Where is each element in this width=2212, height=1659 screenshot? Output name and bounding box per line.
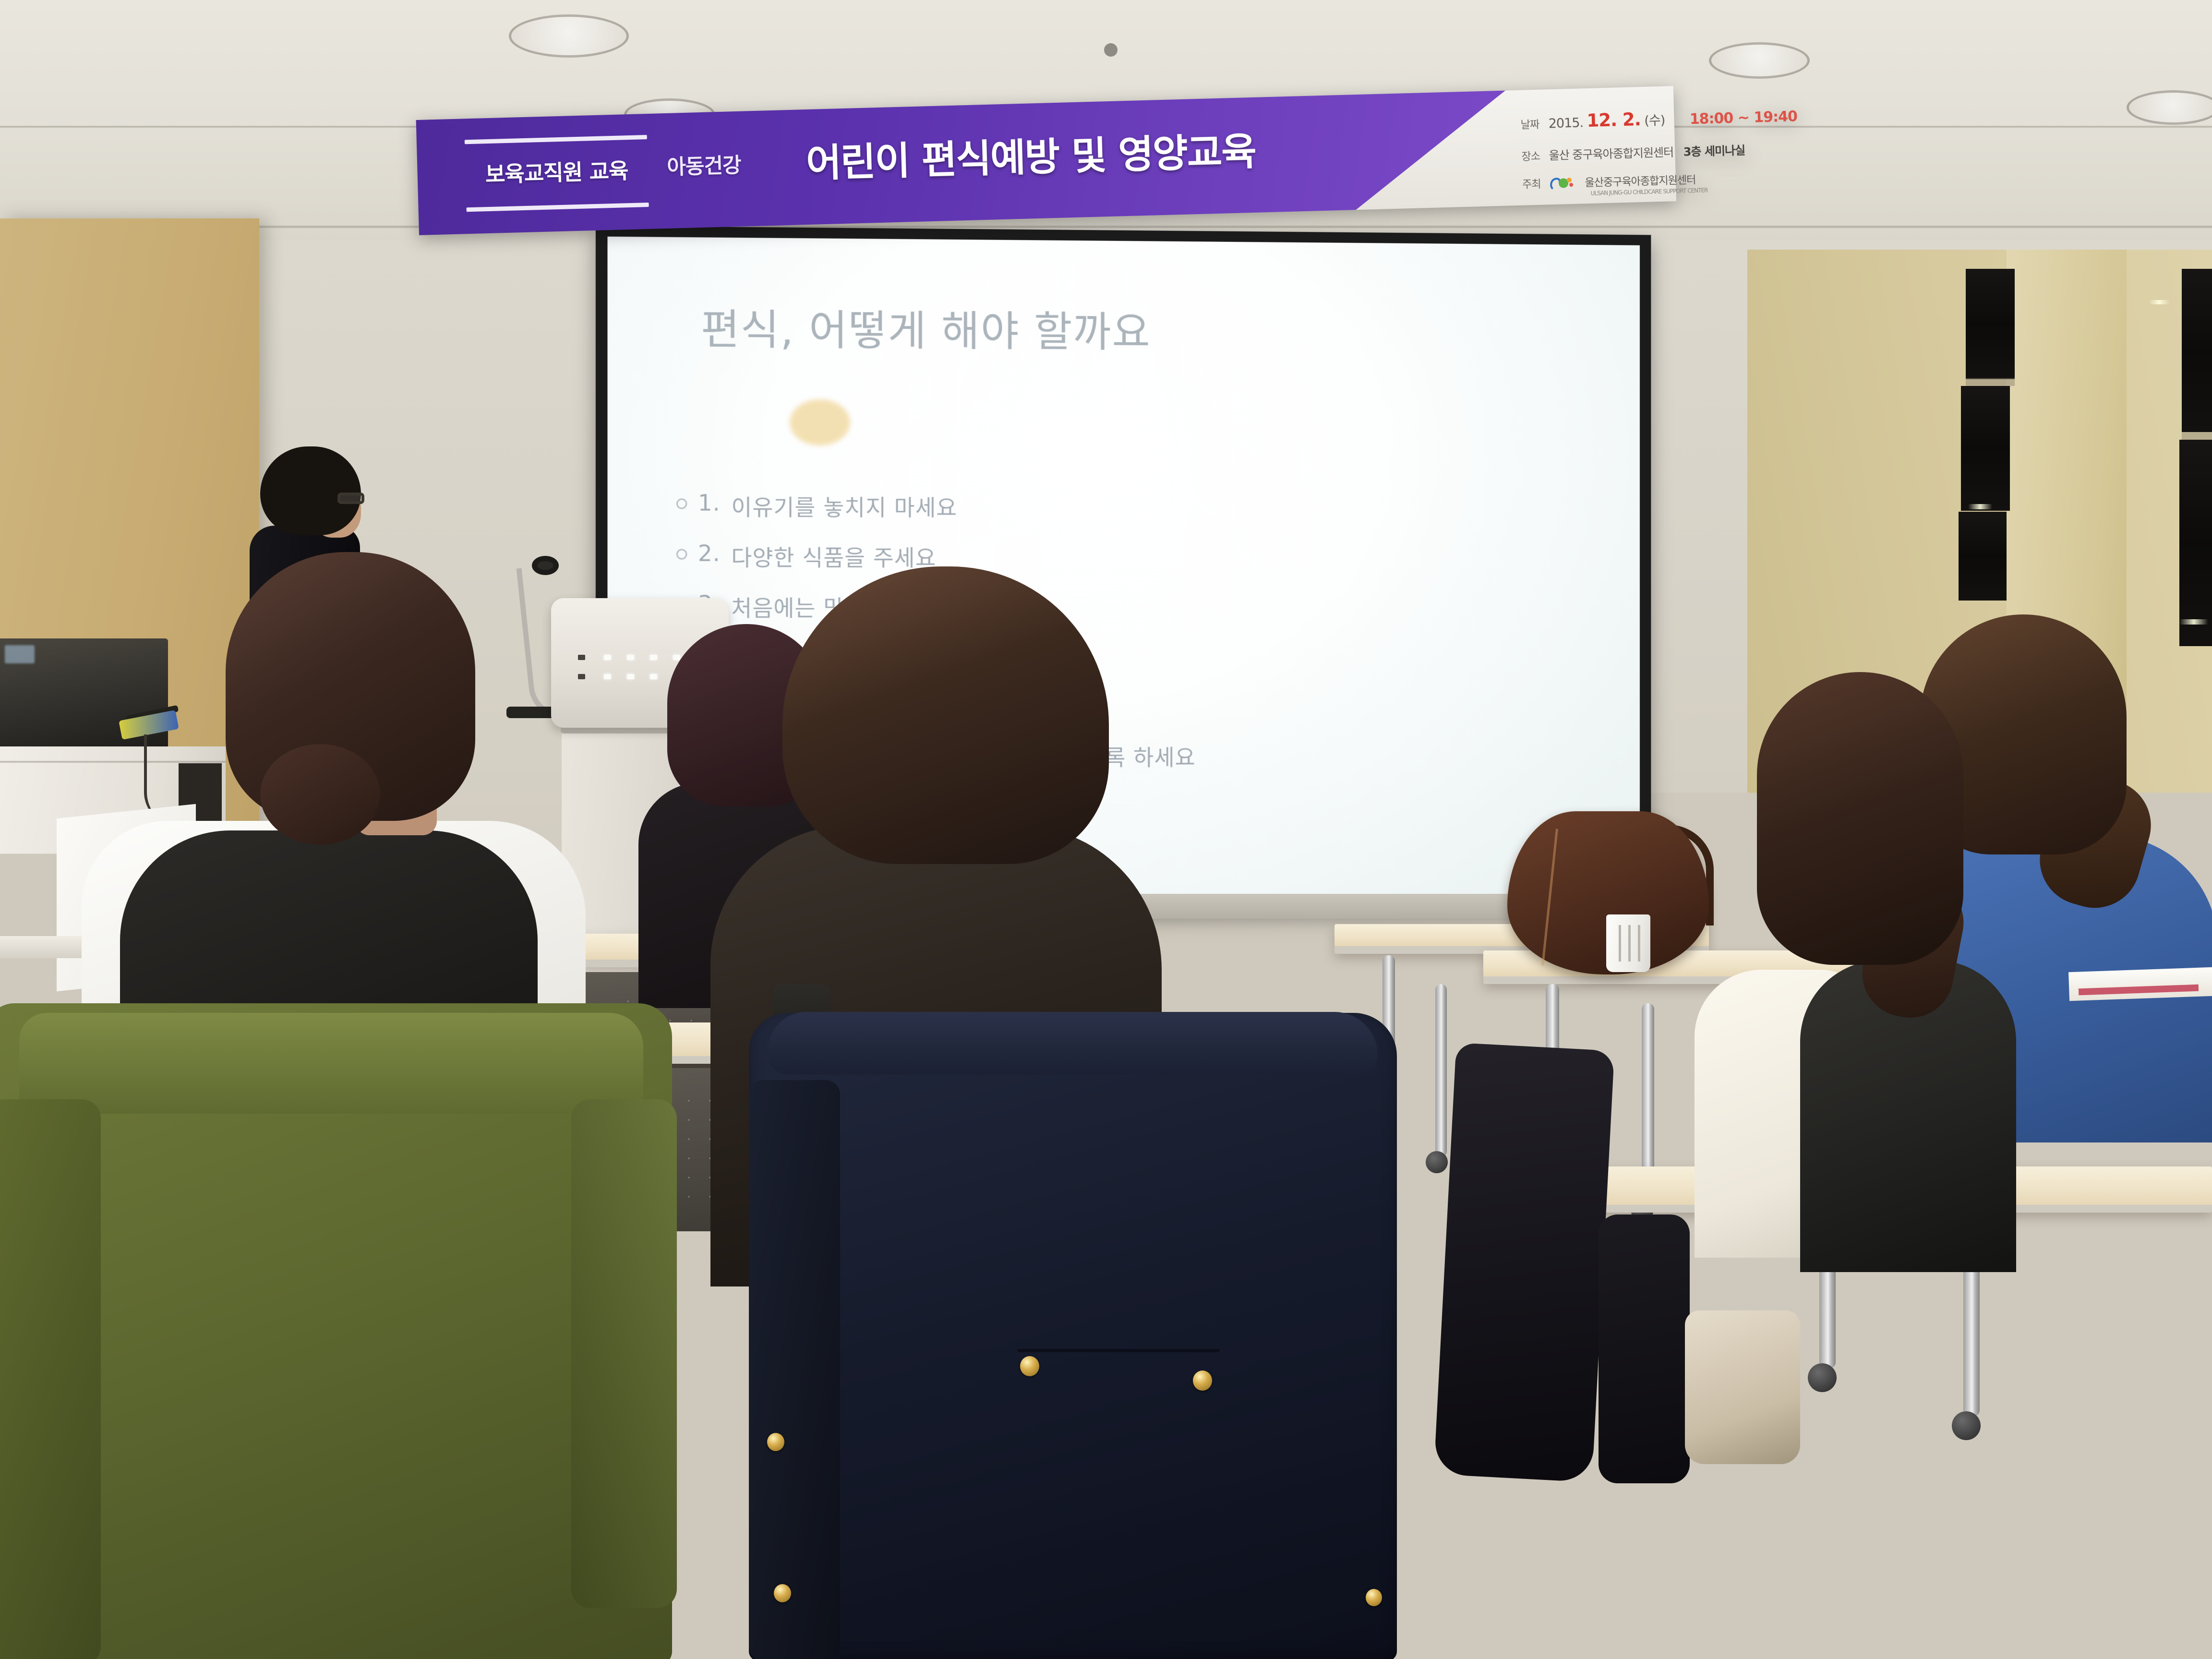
date-weekday: (수) xyxy=(1644,113,1665,129)
banner-subtitle: 아동건강 xyxy=(667,149,742,180)
gold-button-icon xyxy=(1193,1370,1212,1391)
glasses-icon xyxy=(337,493,364,504)
date-day: 12. 2. xyxy=(1587,109,1641,131)
monitor-screen-glint xyxy=(5,645,35,663)
attendee-vest xyxy=(1709,672,2016,1272)
navy-coat-lapel xyxy=(749,1080,840,1659)
navy-coat-collar xyxy=(768,1012,1378,1074)
window-pane xyxy=(2182,269,2212,432)
olive-coat-sleeve-right xyxy=(571,1099,677,1608)
table-caster xyxy=(1808,1363,1837,1392)
ceiling-sensor-icon xyxy=(1104,43,1118,57)
place-label: 장소 xyxy=(1521,151,1540,163)
banner-badge: 보육교직원 교육 xyxy=(465,135,649,212)
bullet-circle-icon xyxy=(676,549,687,559)
table-caster xyxy=(1426,1151,1448,1173)
table-leg xyxy=(1435,984,1447,1157)
black-bag xyxy=(2002,1483,2212,1659)
window-pane xyxy=(1959,512,2007,601)
window-pane xyxy=(1961,386,2010,511)
presenter-hair xyxy=(260,446,361,535)
ceiling-downlight-icon xyxy=(509,14,629,58)
olive-coat-sleeve-left xyxy=(0,1099,101,1659)
host-value: 울산중구육아종합지원센터 xyxy=(1585,174,1695,189)
table-caster xyxy=(1952,1411,1981,1440)
date-label: 날짜 xyxy=(1520,119,1539,132)
ceiling-downlight-icon xyxy=(1709,42,1810,79)
boot xyxy=(1685,1310,1800,1464)
attendee-vest-hair xyxy=(1757,672,1963,965)
list-item: 1. 이유기를 놓치지 마세요 xyxy=(676,490,1615,523)
date-year: 2015. xyxy=(1548,115,1583,131)
list-item-number: 2. xyxy=(698,540,721,566)
list-item-number: 1. xyxy=(698,490,721,516)
attendee-ponytail-bun xyxy=(260,744,380,845)
place-value: 울산 중구육아종합지원센터 xyxy=(1549,145,1673,162)
slide-title: 편식, 어떻게 해야 할까요 xyxy=(701,296,1151,359)
gold-button-icon xyxy=(774,1584,791,1602)
lecture-room-photo: 편식, 어떻게 해야 할까요 1. 이유기를 놓치지 마세요 2. 다양한 식품… xyxy=(0,0,2212,1659)
host-label: 주최 xyxy=(1522,179,1541,191)
banner-badge-label: 보육교직원 교육 xyxy=(465,156,648,190)
place-floor: 3층 세미나실 xyxy=(1683,144,1745,158)
bullet-circle-icon xyxy=(676,498,687,509)
gold-button-icon xyxy=(1020,1356,1039,1376)
event-time: 18:00 ~ 19:40 xyxy=(1689,108,1797,128)
window-glint xyxy=(2149,300,2170,304)
window-glint xyxy=(1968,504,1992,509)
olive-coat-collar xyxy=(19,1013,643,1114)
window-mullion xyxy=(2182,432,2212,440)
papers xyxy=(2068,967,2212,1001)
dark-coat-draped xyxy=(1434,1043,1615,1482)
attendee-leg xyxy=(1599,1214,1690,1483)
navy-coat-draped xyxy=(749,1013,1397,1659)
attendee-brown-hair xyxy=(782,566,1109,864)
list-item-label: 이유기를 놓치지 마세요 xyxy=(731,490,957,522)
sc-swirl-logo-icon xyxy=(1549,174,1577,192)
ceiling-seam xyxy=(0,226,2212,228)
gold-button-icon xyxy=(1366,1589,1382,1606)
window-pane xyxy=(1966,269,2015,379)
window-mullion xyxy=(1966,378,2015,386)
navy-coat-pocket-flap xyxy=(1018,1349,1219,1402)
slide-decor-circle xyxy=(790,399,850,445)
gold-button-icon xyxy=(767,1433,784,1451)
paper-cup xyxy=(1606,914,1650,972)
